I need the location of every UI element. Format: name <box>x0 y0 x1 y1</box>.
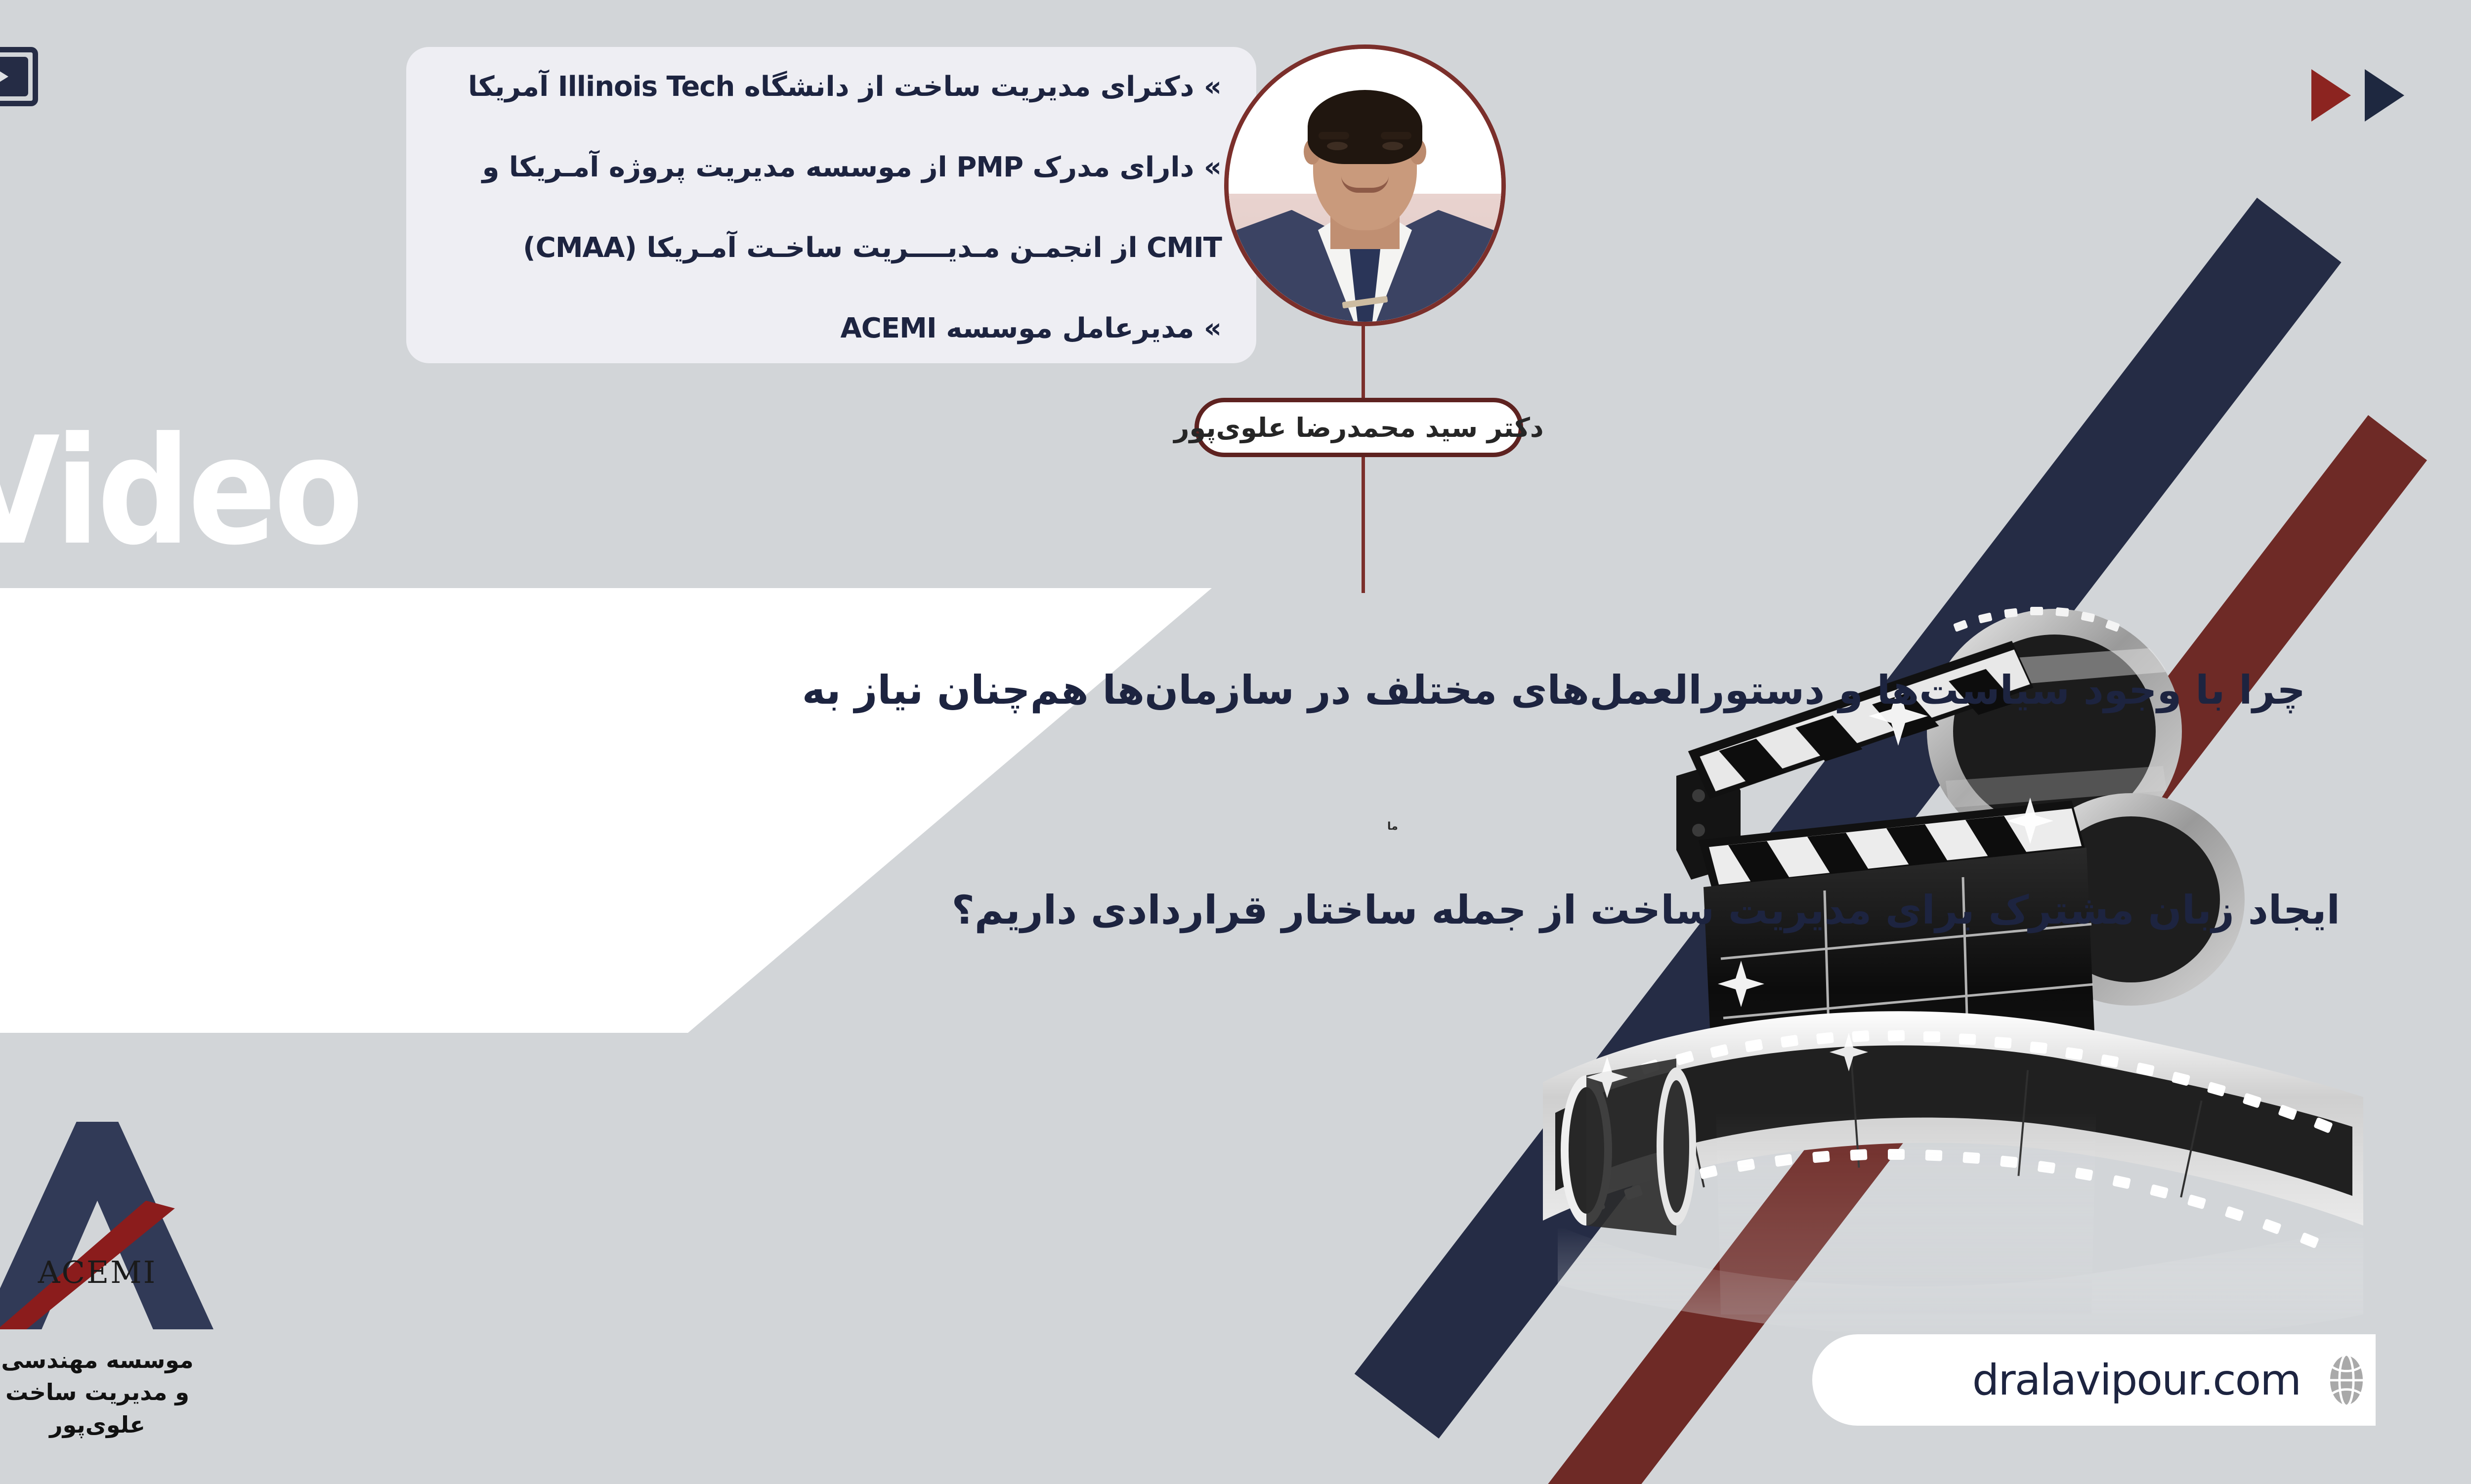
bio-line-3: CMIT از انجمـن مـدیــــریت ساخـت آمـریکا… <box>441 234 1222 263</box>
badge-connector-top <box>1362 321 1365 400</box>
acemi-subtitle-line-2: و مدیریت ساخت علوی‌پور <box>0 1376 233 1441</box>
video-slide: Video » دکترای مدیریت ساخت از دانشگاه Il… <box>0 0 2471 1484</box>
bio-line-2: » دارای مدرک PMP از موسسه مدیریت پروژه آ… <box>441 153 1222 182</box>
speaker-name-badge: دکتر سید محمدرضا علوی‌پور <box>1194 398 1523 457</box>
avatar-eye-right <box>1382 142 1403 150</box>
play-icon-inner <box>0 57 28 96</box>
acemi-wordmark: ACEMI <box>0 1254 213 1290</box>
avatar-brow-right <box>1381 132 1411 139</box>
question-line-2: ایجاد زبان مشترک برای مدیریت ساخت از جمل… <box>951 887 2340 933</box>
acemi-logo: ACEMI موسسه مهندسی و مدیریت ساخت علوی‌پو… <box>0 1122 213 1438</box>
speaker-bio-card: » دکترای مدیریت ساخت از دانشگاه Illinois… <box>406 47 1256 363</box>
speaker-avatar <box>1224 44 1506 326</box>
speaker-name: دکتر سید محمدرضا علوی‌پور <box>1174 412 1543 443</box>
fast-forward-arrow-navy-icon <box>2365 69 2404 122</box>
avatar-hair <box>1308 90 1422 164</box>
play-icon[interactable] <box>0 47 38 106</box>
website-badge[interactable]: dralavipour.com <box>1812 1334 2376 1426</box>
fast-forward-arrows <box>2311 69 2404 122</box>
bio-line-4: » مدیرعامل موسسه ACEMI <box>441 314 1222 343</box>
logo-a-shape <box>0 1122 213 1329</box>
acemi-subtitle: موسسه مهندسی و مدیریت ساخت علوی‌پور <box>0 1344 233 1441</box>
play-triangle <box>0 64 8 89</box>
bio-line-1: » دکترای مدیریت ساخت از دانشگاه Illinois… <box>441 73 1222 102</box>
acemi-logo-mark <box>0 1122 213 1329</box>
avatar-eye-left <box>1327 142 1348 150</box>
acemi-subtitle-line-1: موسسه مهندسی <box>0 1344 233 1376</box>
question-tiny-mark: ما <box>1387 820 1398 833</box>
website-url: dralavipour.com <box>1972 1356 2301 1405</box>
avatar-brow-left <box>1319 132 1349 139</box>
fast-forward-arrow-red-icon <box>2311 69 2351 122</box>
question-line-1: چرا با وجود سیاست‌ها و دستورالعمل‌های مخ… <box>802 667 2305 713</box>
video-watermark: Video <box>0 418 361 566</box>
badge-connector-bottom <box>1362 457 1365 593</box>
globe-icon <box>2317 1351 2376 1409</box>
